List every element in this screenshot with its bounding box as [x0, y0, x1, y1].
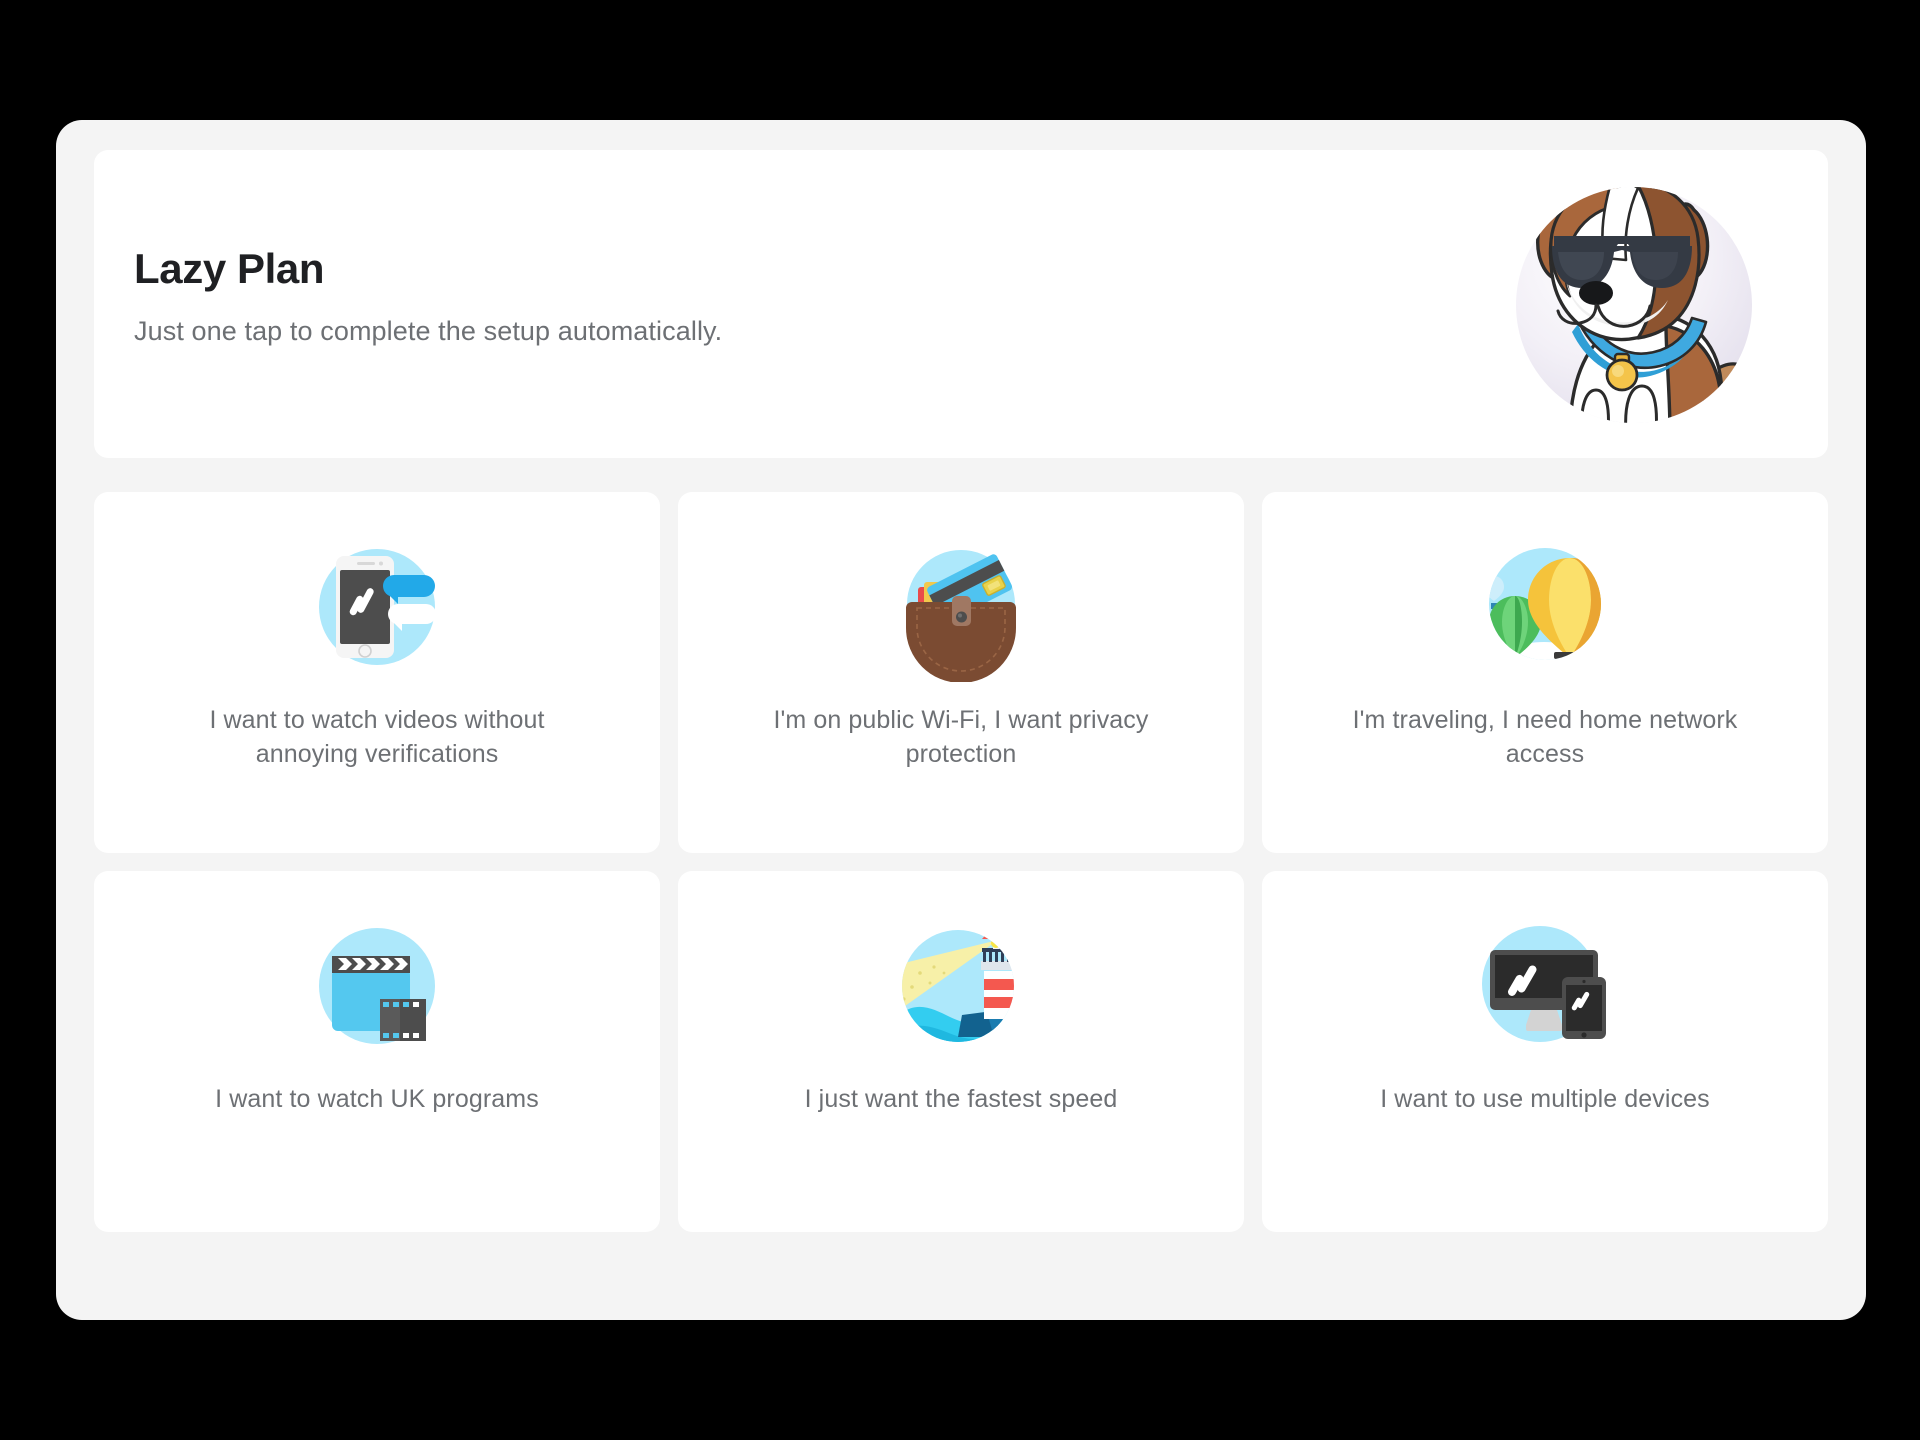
- option-card-watch-videos-no-verification[interactable]: I want to watch videos without annoying …: [94, 492, 660, 853]
- option-label: I'm on public Wi-Fi, I want privacy prot…: [751, 704, 1171, 771]
- option-card-traveling-home-network[interactable]: I'm traveling, I need home network acces…: [1262, 492, 1828, 853]
- option-card-multiple-devices[interactable]: I want to use multiple devices: [1262, 871, 1828, 1232]
- monitor-tablet-devices-icon: [1470, 911, 1620, 1061]
- lazy-plan-panel: Lazy Plan Just one tap to complete the s…: [56, 120, 1866, 1320]
- option-label: I want to watch UK programs: [167, 1083, 587, 1117]
- phone-chat-bubbles-icon: [302, 532, 452, 682]
- option-card-public-wifi-privacy[interactable]: I'm on public Wi-Fi, I want privacy prot…: [678, 492, 1244, 853]
- wallet-credit-cards-icon: [886, 532, 1036, 682]
- lighthouse-beam-icon: [886, 911, 1036, 1061]
- option-label: I just want the fastest speed: [751, 1083, 1171, 1117]
- option-label: I'm traveling, I need home network acces…: [1335, 704, 1755, 771]
- option-label: I want to use multiple devices: [1335, 1083, 1755, 1117]
- option-card-watch-uk-programs[interactable]: I want to watch UK programs: [94, 871, 660, 1232]
- hot-air-balloons-icon: [1470, 532, 1620, 682]
- option-card-fastest-speed[interactable]: I just want the fastest speed: [678, 871, 1244, 1232]
- option-label: I want to watch videos without annoying …: [167, 704, 587, 771]
- header-card: Lazy Plan Just one tap to complete the s…: [94, 150, 1828, 458]
- option-card-grid: I want to watch videos without annoying …: [94, 492, 1828, 1232]
- dog-avatar-icon: [1498, 176, 1770, 434]
- clapperboard-film-icon: [302, 911, 452, 1061]
